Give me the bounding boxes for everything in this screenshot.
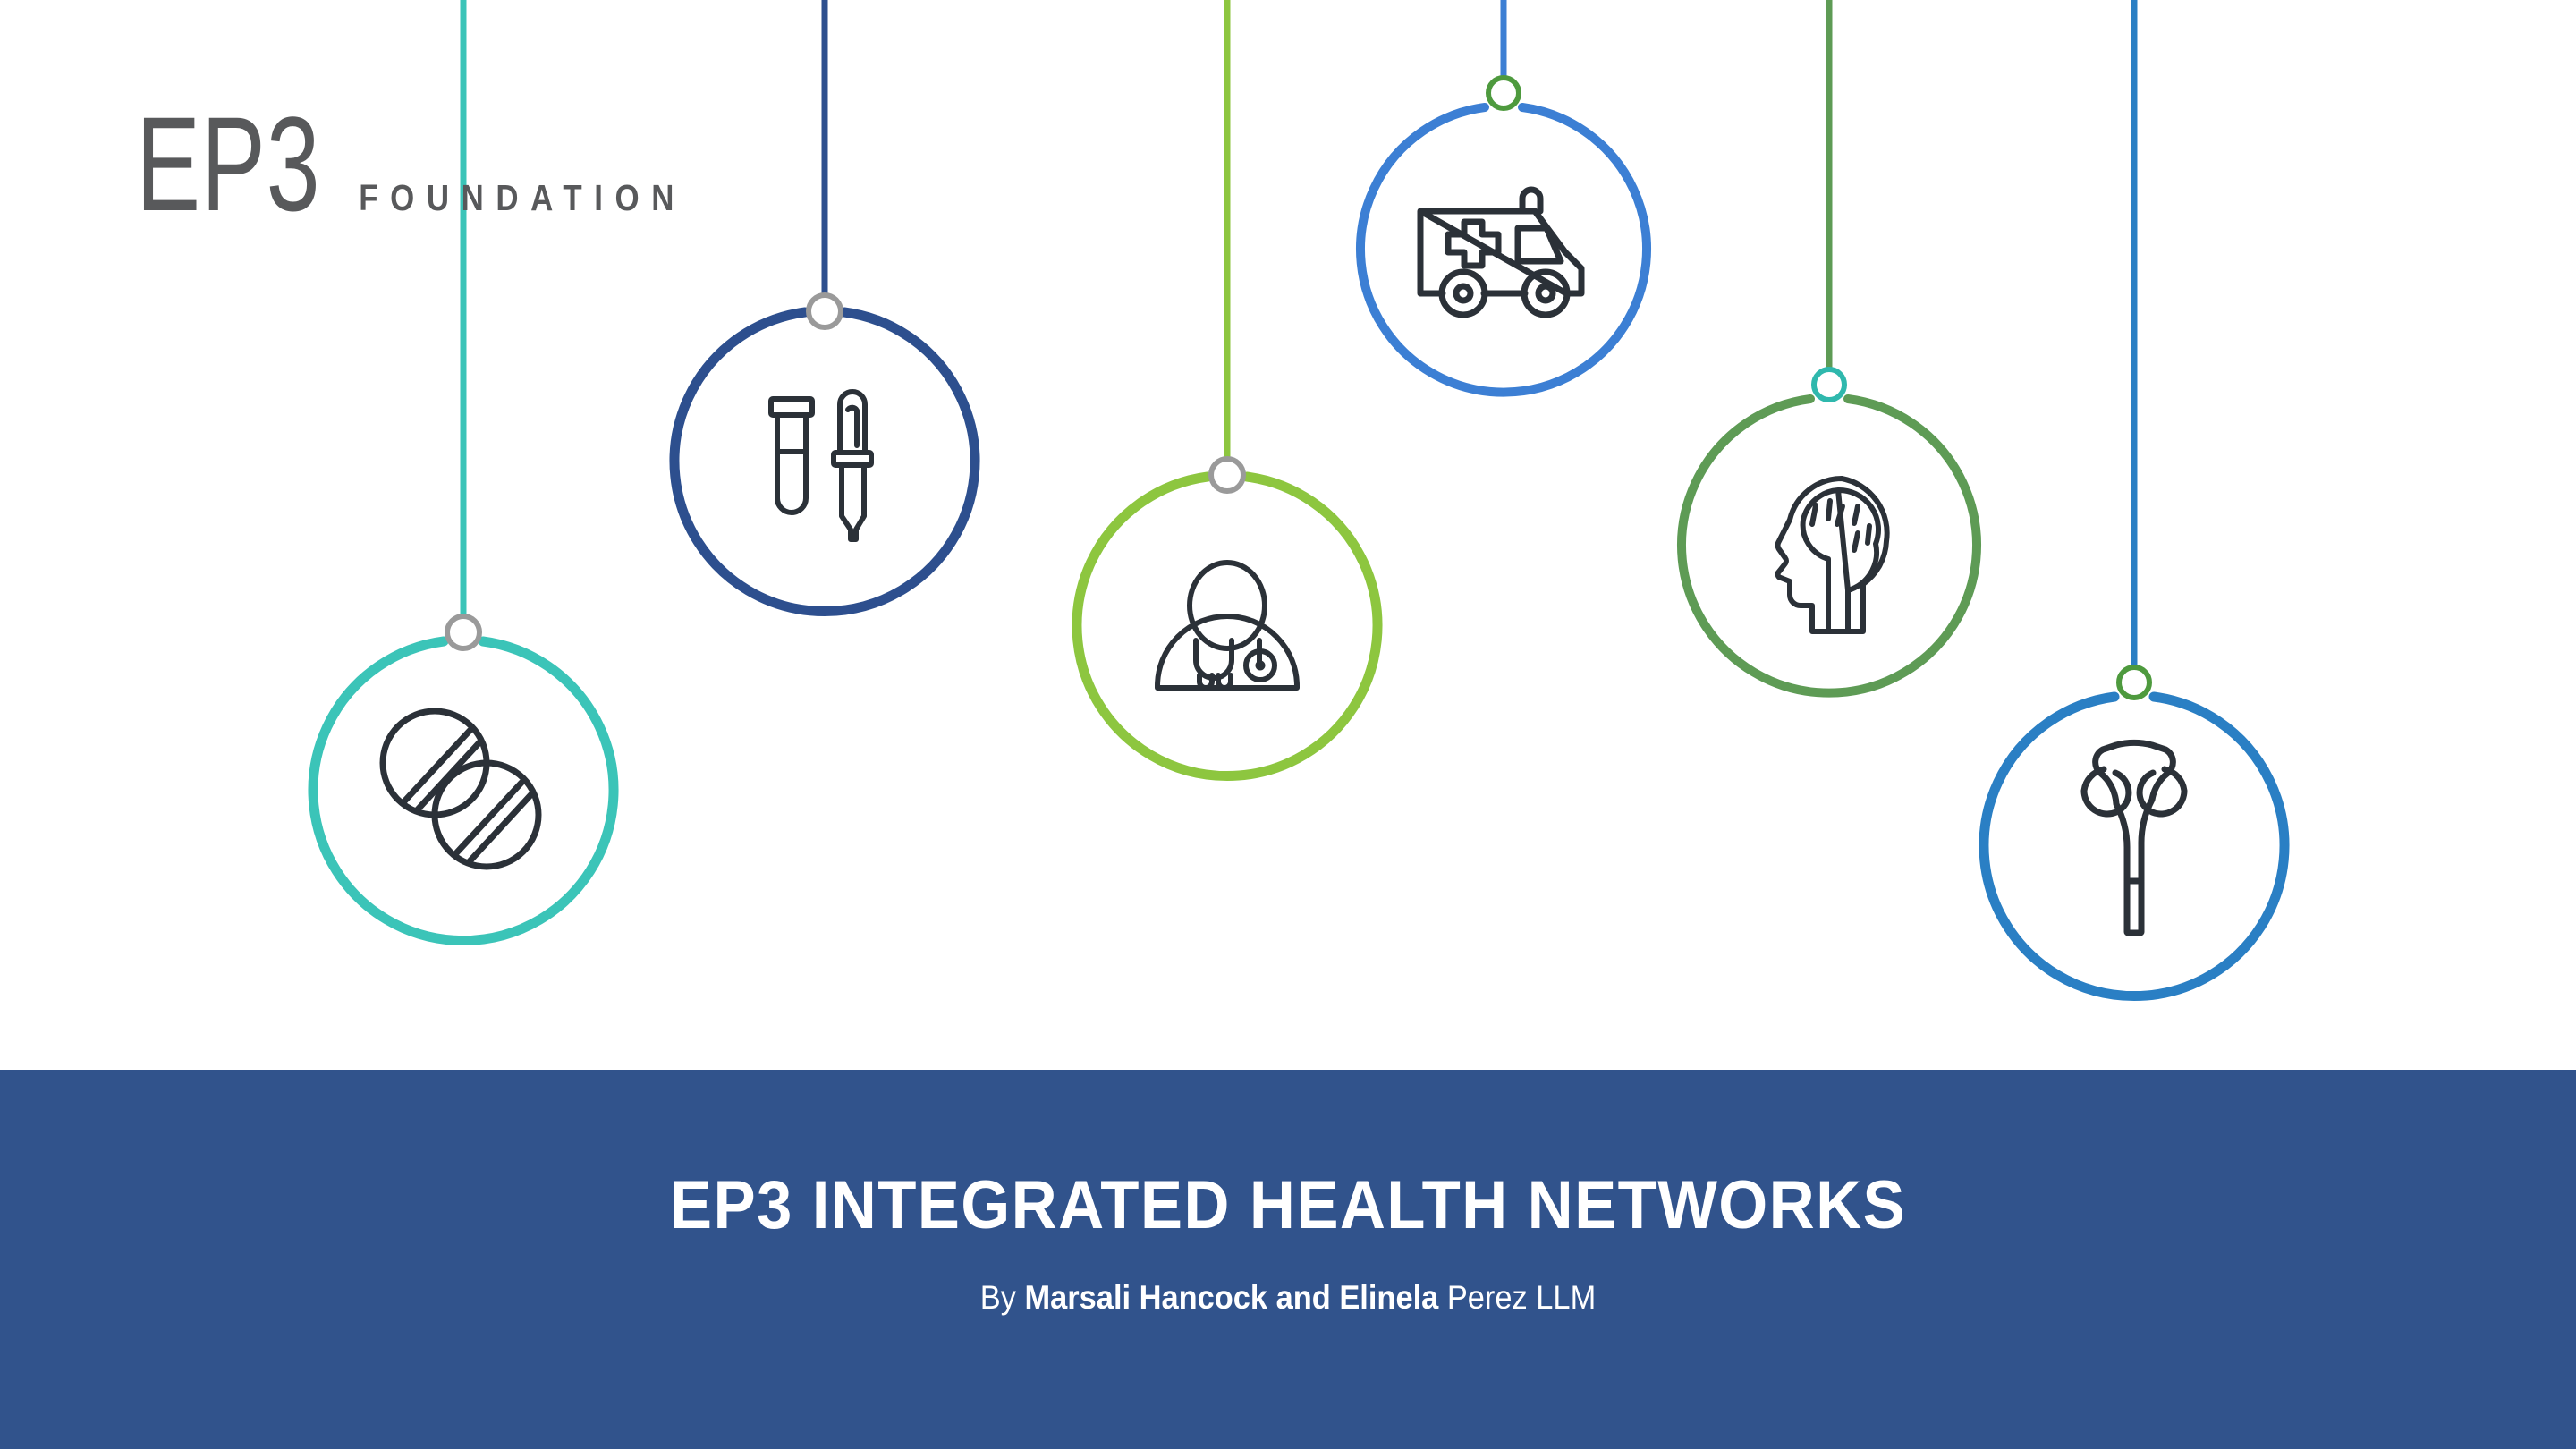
hanging-icons-stage: EP3 FOUNDATION: [0, 0, 2576, 1070]
byline-prefix: By: [980, 1279, 1025, 1316]
node-diagnostics: [674, 0, 975, 612]
node-emergency: [1360, 0, 1647, 393]
ambulance-icon: [1420, 190, 1581, 315]
title-banner: EP3 INTEGRATED HEALTH NETWORKS By Marsal…: [0, 1070, 2576, 1449]
page-title: EP3 INTEGRATED HEALTH NETWORKS: [90, 1070, 2486, 1240]
pills-icon: [383, 711, 538, 867]
node-circle-diagnostics: [674, 312, 975, 612]
brain-head-icon: [1778, 479, 1887, 631]
connector-ring-providers: [1211, 459, 1243, 491]
node-circle-medication: [313, 641, 614, 941]
slide-root: EP3 FOUNDATION EP3 INTEGRATED HEALTH NET…: [0, 0, 2576, 1449]
doctor-stethoscope-icon: [1157, 563, 1297, 688]
connector-ring-reproductive: [2119, 667, 2149, 698]
byline-authors: Marsali Hancock and Elinela: [1024, 1279, 1438, 1316]
node-circle-behavioral: [1682, 399, 1977, 693]
byline-suffix: Perez LLM: [1438, 1279, 1596, 1316]
connector-ring-emergency: [1488, 78, 1519, 108]
connector-ring-behavioral: [1814, 369, 1844, 400]
logo-wordmark: FOUNDATION: [359, 177, 686, 219]
ep3-foundation-logo: EP3 FOUNDATION: [100, 97, 715, 231]
logo-mark: EP3: [136, 97, 320, 231]
test-tube-dropper-icon: [771, 392, 871, 539]
node-behavioral: [1682, 0, 1977, 693]
node-circle-providers: [1077, 477, 1377, 776]
connector-ring-diagnostics: [809, 295, 841, 327]
node-circle-emergency: [1360, 107, 1647, 393]
uterus-icon: [2084, 742, 2184, 933]
node-providers: [1077, 0, 1377, 776]
byline: By Marsali Hancock and Elinela Perez LLM: [90, 1240, 2486, 1314]
node-reproductive: [1984, 0, 2284, 996]
connector-ring-medication: [447, 616, 479, 648]
